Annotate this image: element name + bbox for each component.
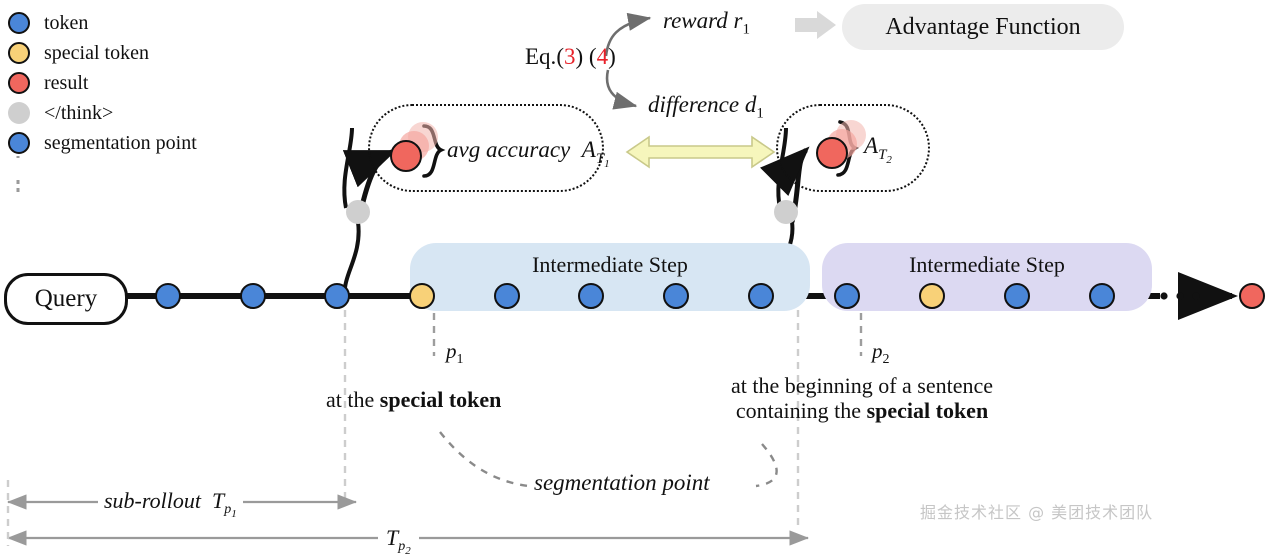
caption-right-line2: containing the special token [694, 399, 1030, 424]
token-node [578, 283, 604, 309]
t2-subsub: 2 [405, 545, 411, 557]
marker-p1-letter: p [446, 339, 457, 363]
avg-accuracy-symbol: A [582, 137, 596, 162]
token-node [663, 283, 689, 309]
equation-reference: Eq.(3) (4) [525, 44, 616, 70]
think-marker-icon-1 [346, 200, 370, 224]
avg-accuracy-label: avg accuracy AT1 [447, 137, 610, 170]
difference-label: difference d1 [648, 92, 764, 122]
difference-subscript: 1 [756, 106, 764, 122]
token-node [155, 283, 181, 309]
marker-p1-sub: 1 [457, 352, 464, 367]
legend-item-label: segmentation point [44, 133, 197, 153]
token-node [240, 283, 266, 309]
legend-item-result: result [8, 68, 197, 98]
marker-p2: p2 [872, 340, 890, 368]
stacked-result-dot-front-2 [816, 137, 848, 169]
think-marker-icon-2 [774, 200, 798, 224]
t2-label: Tp2 [378, 526, 419, 558]
t2-symbol: T [386, 525, 398, 550]
caption-left-bold: special token [380, 387, 502, 412]
equation-paren-open-1: ( [556, 44, 564, 69]
difference-text: difference d [648, 92, 756, 117]
query-box[interactable]: Query [4, 273, 128, 325]
marker-p2-letter: p [872, 339, 883, 363]
sub-rollout-label: sub-rollout Tp1 [98, 489, 243, 521]
marker-p1: p1 [446, 340, 464, 368]
stacked-result-dot-front [390, 140, 422, 172]
segmentation-point-node [748, 283, 774, 309]
caption-left-plain: at the [326, 387, 380, 412]
caption-right-line1: at the beginning of a sentence [694, 374, 1030, 399]
equation-number-4: 4 [597, 44, 609, 69]
result-node [1239, 283, 1265, 309]
sub-rollout-text: sub-rollout [104, 488, 201, 513]
equation-paren-open-2: ( [589, 44, 597, 69]
avg-accuracy-text: avg accuracy [447, 137, 570, 162]
token-node [1089, 283, 1115, 309]
diagram-canvas: token special token result </think> segm… [0, 0, 1280, 558]
accuracy-symbol-2: AT2 [864, 133, 892, 166]
t1-symbol: T [212, 488, 224, 513]
equation-paren-close-1: ) [575, 44, 583, 69]
segmentation-point-caption: segmentation point [534, 470, 710, 496]
circle-gold-icon [8, 42, 30, 64]
query-label: Query [35, 285, 97, 313]
special-token-node [919, 283, 945, 309]
accuracy-symbol-2-subsub: 2 [886, 154, 892, 166]
equation-number-3: 3 [564, 44, 576, 69]
legend-item-label: token [44, 13, 88, 33]
legend-item-segmentation-point: segmentation point [8, 128, 197, 158]
caption-right: at the beginning of a sentence containin… [694, 374, 1030, 423]
caption-left: at the special token [326, 388, 501, 413]
legend-item-label: </think> [44, 103, 113, 123]
token-node [1004, 283, 1030, 309]
watermark: 掘金技术社区 @ 美团技术团队 [920, 499, 1153, 523]
circle-gray-icon [8, 102, 30, 124]
special-token-node [409, 283, 435, 309]
reward-label: reward r1 [663, 8, 750, 38]
token-node [494, 283, 520, 309]
accuracy-symbol-2-letter: A [864, 133, 878, 158]
legend-item-label: result [44, 73, 88, 93]
legend-item-label: special token [44, 43, 149, 63]
avg-accuracy-subsub: 1 [604, 158, 610, 170]
circle-red-icon [8, 72, 30, 94]
circle-blue-icon [8, 12, 30, 34]
legend: token special token result </think> segm… [8, 8, 197, 158]
legend-item-special-token: special token [8, 38, 197, 68]
legend-item-think: </think> [8, 98, 197, 128]
equation-prefix: Eq. [525, 44, 556, 69]
caption-right-line2-bold: special token [867, 398, 989, 423]
advantage-function-box[interactable]: Advantage Function [842, 4, 1124, 50]
reward-subscript: 1 [742, 22, 750, 38]
marker-p2-sub: 2 [883, 352, 890, 367]
legend-item-token: token [8, 8, 197, 38]
advantage-function-label: Advantage Function [885, 14, 1080, 41]
avg-accuracy-sub: T [596, 151, 604, 167]
equation-paren-close-2: ) [608, 44, 616, 69]
caption-right-line2-plain: containing the [736, 398, 867, 423]
reward-text: reward r [663, 8, 742, 33]
t1-subsub: 1 [231, 508, 237, 520]
segmentation-point-node [834, 283, 860, 309]
circle-blue-dashed-icon [8, 132, 30, 154]
segmentation-point-node [324, 283, 350, 309]
